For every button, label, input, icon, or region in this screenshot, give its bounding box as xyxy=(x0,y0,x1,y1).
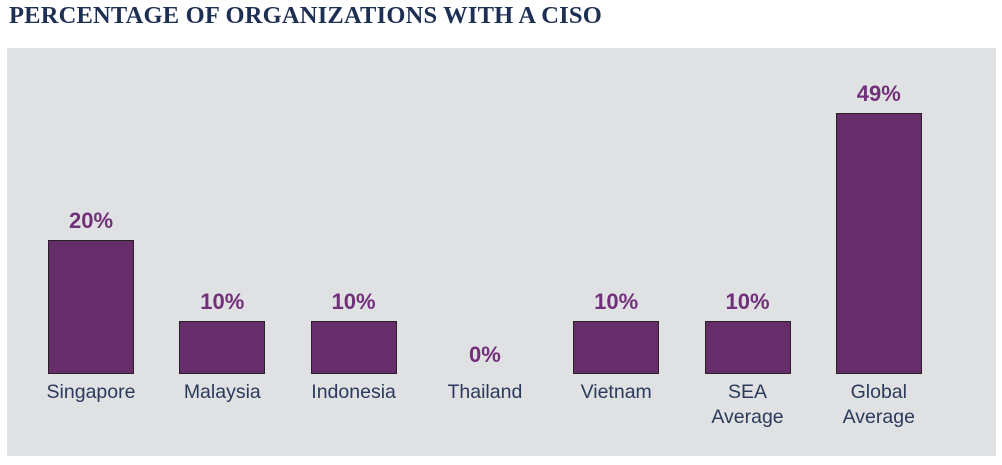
bar-global-average[interactable] xyxy=(836,113,922,374)
chart-figure: PERCENTAGE OF ORGANIZATIONS WITH A CISO … xyxy=(0,0,1002,465)
bar-value-label: 0% xyxy=(469,344,501,366)
bar-malaysia[interactable] xyxy=(179,321,265,374)
chart-title: PERCENTAGE OF ORGANIZATIONS WITH A CISO xyxy=(9,3,602,30)
bar-category-label: Global Average xyxy=(794,380,964,430)
bar-value-label: 10% xyxy=(725,291,769,313)
bar-value-label: 49% xyxy=(857,83,901,105)
bar-group: 20%Singapore xyxy=(48,48,134,456)
bar-sea-average[interactable] xyxy=(705,321,791,374)
bar-value-label: 10% xyxy=(200,291,244,313)
plot-area: 20%Singapore10%Malaysia10%Indonesia0%Tha… xyxy=(7,48,996,456)
bar-group: 10%Malaysia xyxy=(179,48,265,456)
bar-value-label: 20% xyxy=(69,210,113,232)
bar-group: 0%Thailand xyxy=(442,48,528,456)
bar-value-label: 10% xyxy=(332,291,376,313)
bar-group: 10%Vietnam xyxy=(573,48,659,456)
bar-vietnam[interactable] xyxy=(573,321,659,374)
bar-value-label: 10% xyxy=(594,291,638,313)
bar-group: 10%Indonesia xyxy=(311,48,397,456)
bar-group: 49%Global Average xyxy=(836,48,922,456)
bar-singapore[interactable] xyxy=(48,240,134,374)
bar-series: 20%Singapore10%Malaysia10%Indonesia0%Tha… xyxy=(7,48,996,456)
bar-indonesia[interactable] xyxy=(311,321,397,374)
bar-group: 10%SEA Average xyxy=(705,48,791,456)
